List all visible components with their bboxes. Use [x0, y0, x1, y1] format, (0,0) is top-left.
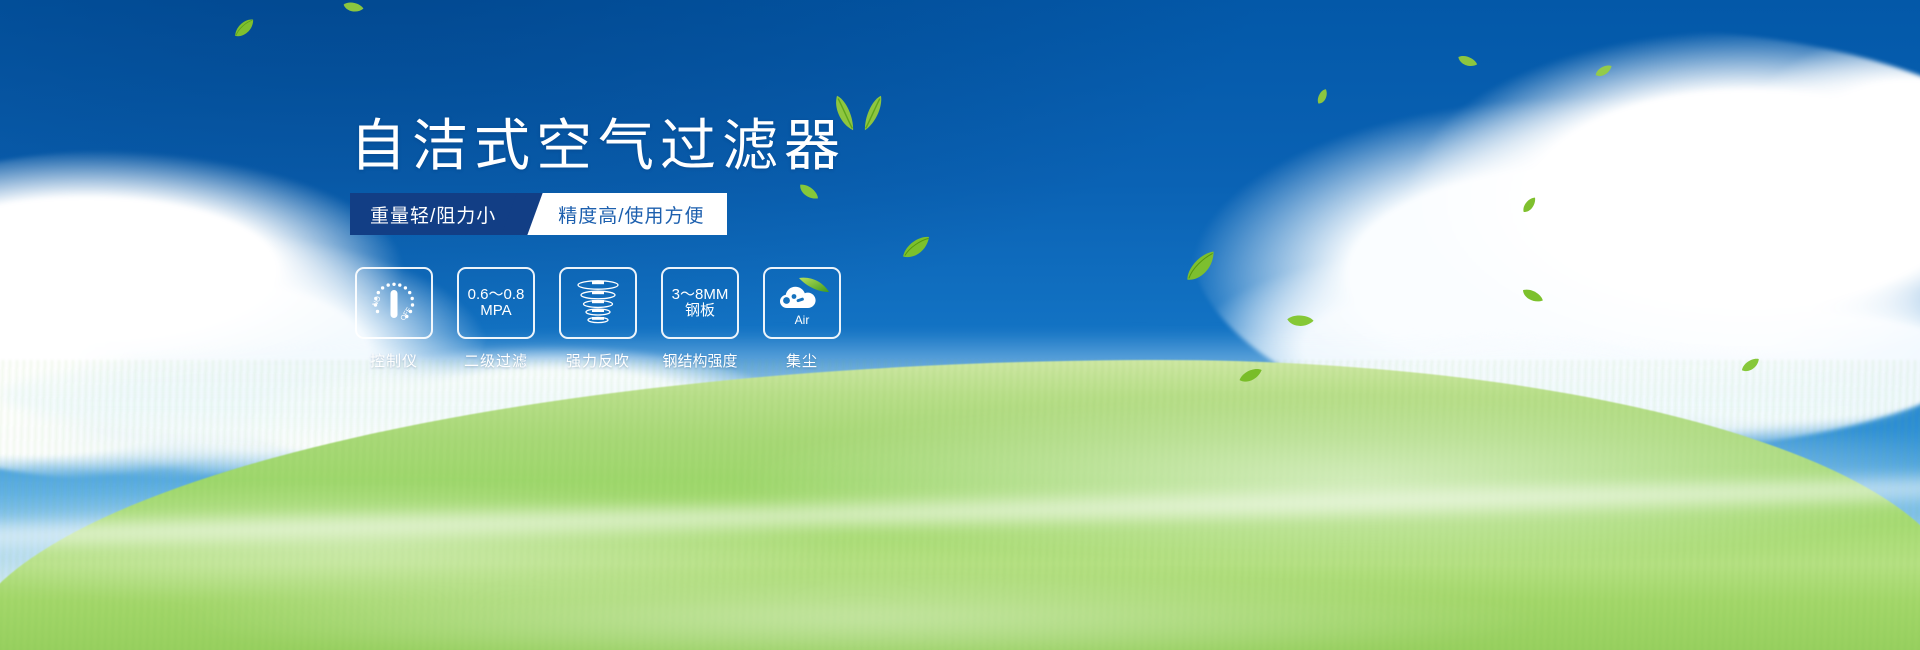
- feature-item-strong-back-blow[interactable]: 强力反吹: [559, 267, 637, 371]
- reverse-blow-coil-icon: [572, 276, 624, 330]
- feature-line-1: 3～8MM: [672, 286, 729, 303]
- feature-line-1: 0.6～0.8: [468, 286, 525, 303]
- feature-icon-box: NO OFF: [355, 267, 433, 339]
- feature-caption: 二级过滤: [464, 350, 528, 371]
- feature-line-2: MPA: [468, 303, 525, 319]
- feature-icon-box: 0.6～0.8 MPA: [457, 267, 535, 339]
- air-cloud-icon: Air: [769, 274, 835, 332]
- svg-text:OFF: OFF: [400, 306, 413, 322]
- svg-text:NO: NO: [372, 295, 383, 308]
- feature-icon-box: [559, 267, 637, 339]
- feature-caption: 强力反吹: [566, 350, 630, 371]
- tab-high-precision-easy-use[interactable]: 精度高/使用方便: [526, 193, 726, 235]
- hero-banner: 自洁式空气过滤器 重量轻/阻力小 精度高/使用方便: [0, 0, 1920, 650]
- feature-list: NO OFF 控制仪 0.6～0.8 MPA 二级过滤: [355, 267, 841, 371]
- feature-item-two-stage-filtration[interactable]: 0.6～0.8 MPA 二级过滤: [457, 267, 535, 371]
- feature-caption: 钢结构强度: [662, 350, 737, 371]
- pressure-text-icon: 0.6～0.8 MPA: [468, 287, 525, 319]
- feature-caption: 控制仪: [370, 350, 418, 371]
- page-title: 自洁式空气过滤器: [350, 118, 846, 174]
- banner-content: 自洁式空气过滤器 重量轻/阻力小 精度高/使用方便: [0, 0, 1920, 650]
- tab-label: 重量轻/阻力小: [370, 201, 496, 228]
- air-label: Air: [795, 313, 810, 327]
- feature-item-dust-collection[interactable]: Air 集尘: [763, 267, 841, 371]
- tab-label: 精度高/使用方便: [558, 201, 704, 228]
- feature-caption: 集尘: [786, 350, 818, 371]
- feature-icon-box: 3～8MM 钢板: [661, 267, 739, 339]
- control-dial-icon: NO OFF: [364, 275, 424, 331]
- tab-lightweight-low-resistance[interactable]: 重量轻/阻力小: [350, 193, 522, 235]
- steel-plate-text-icon: 3～8MM 钢板: [672, 287, 729, 319]
- feature-icon-box: Air: [763, 267, 841, 339]
- feature-line-2: 钢板: [672, 303, 729, 319]
- feature-item-steel-structure-strength[interactable]: 3～8MM 钢板 钢结构强度: [661, 267, 739, 371]
- tab-list: 重量轻/阻力小 精度高/使用方便: [350, 193, 727, 235]
- feature-item-controller[interactable]: NO OFF 控制仪: [355, 267, 433, 371]
